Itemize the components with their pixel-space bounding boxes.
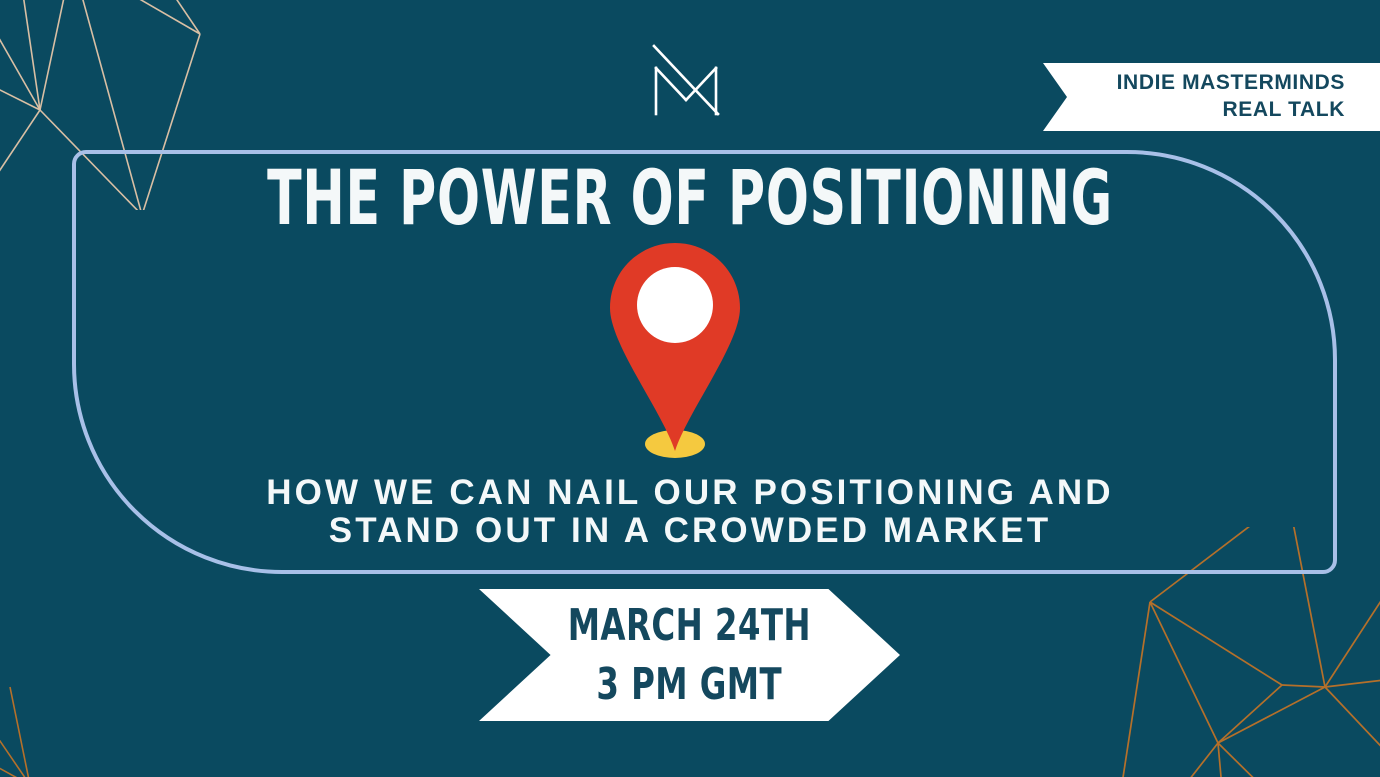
m-monogram-logo (640, 44, 732, 116)
location-pin-icon (610, 243, 740, 461)
series-badge-line-2: REAL TALK (1223, 97, 1345, 124)
date-time-banner: MARCH 24TH 3 PM GMT (479, 589, 900, 721)
page-title: THE POWER OF POSITIONING (179, 160, 1200, 236)
page-subtitle: HOW WE CAN NAIL OUR POSITIONING AND STAN… (250, 474, 1130, 550)
event-announcement-slide: INDIE MASTERMINDS REAL TALK THE POWER OF… (0, 0, 1380, 777)
event-time: 3 PM GMT (597, 655, 783, 714)
series-badge-banner: INDIE MASTERMINDS REAL TALK (1043, 63, 1380, 131)
geometric-wireframe-decoration-bottom-left (0, 657, 120, 777)
series-badge-line-1: INDIE MASTERMINDS (1117, 70, 1345, 97)
event-date: MARCH 24TH (568, 596, 811, 655)
